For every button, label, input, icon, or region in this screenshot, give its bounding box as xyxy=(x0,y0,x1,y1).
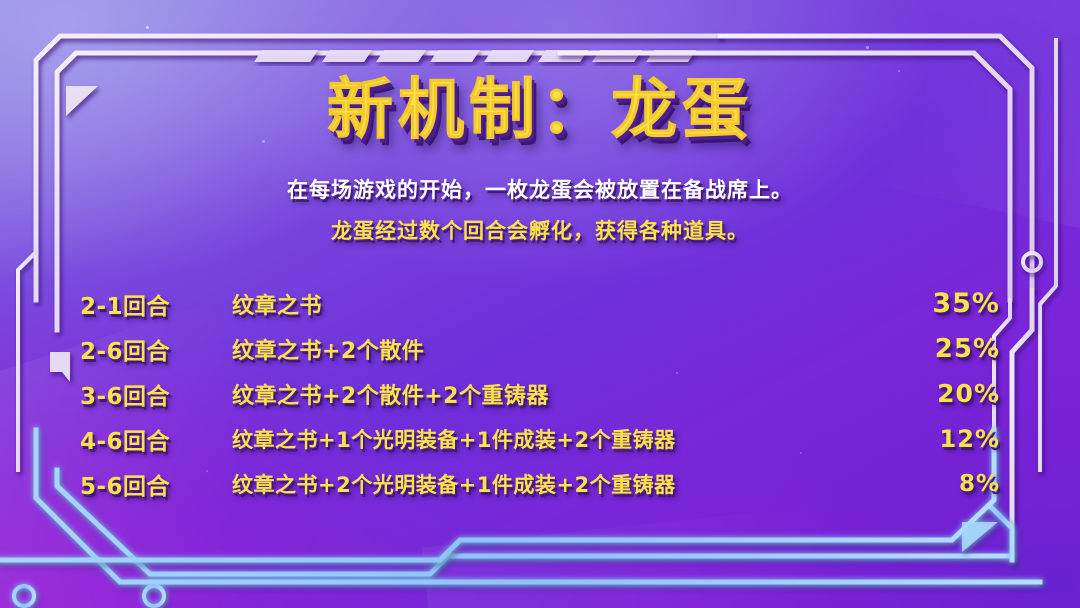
row-chance: 12% xyxy=(900,425,1000,453)
row-reward: 纹章之书+1个光明装备+1件成装+2个重铸器 xyxy=(232,424,900,454)
table-row: 4-6回合 纹章之书+1个光明装备+1件成装+2个重铸器 12% xyxy=(80,416,1000,461)
drop-table: 2-1回合 纹章之书 35% 2-6回合 纹章之书+2个散件 25% 3-6回合… xyxy=(80,281,1000,506)
row-round: 3-6回合 xyxy=(80,377,232,411)
page-title: 新机制：龙蛋 xyxy=(0,56,1080,152)
row-round: 5-6回合 xyxy=(80,467,232,501)
row-chance: 20% xyxy=(900,379,1000,408)
table-row: 5-6回合 纹章之书+2个光明装备+1件成装+2个重铸器 8% xyxy=(80,461,1000,506)
description-line-1: 在每场游戏的开始，一枚龙蛋会被放置在备战席上。 xyxy=(0,174,1080,204)
row-round: 2-1回合 xyxy=(80,287,232,321)
content-layer: 新机制：龙蛋 在每场游戏的开始，一枚龙蛋会被放置在备战席上。 龙蛋经过数个回合会… xyxy=(0,0,1080,608)
table-row: 2-1回合 纹章之书 35% xyxy=(80,281,1000,326)
infographic-canvas: 新机制：龙蛋 在每场游戏的开始，一枚龙蛋会被放置在备战席上。 龙蛋经过数个回合会… xyxy=(0,0,1080,608)
row-reward: 纹章之书+2个散件 xyxy=(232,333,900,365)
table-row: 2-6回合 纹章之书+2个散件 25% xyxy=(80,326,1000,371)
row-reward: 纹章之书+2个光明装备+1件成装+2个重铸器 xyxy=(232,469,900,499)
row-round: 4-6回合 xyxy=(80,422,232,456)
row-reward: 纹章之书 xyxy=(232,288,900,320)
row-reward: 纹章之书+2个散件+2个重铸器 xyxy=(232,378,900,410)
table-row: 3-6回合 纹章之书+2个散件+2个重铸器 20% xyxy=(80,371,1000,416)
row-chance: 25% xyxy=(900,334,1000,364)
description-line-2: 龙蛋经过数个回合会孵化，获得各种道具。 xyxy=(0,215,1080,245)
row-chance: 8% xyxy=(900,471,1000,497)
row-chance: 35% xyxy=(900,288,1000,319)
row-round: 2-6回合 xyxy=(80,332,232,366)
